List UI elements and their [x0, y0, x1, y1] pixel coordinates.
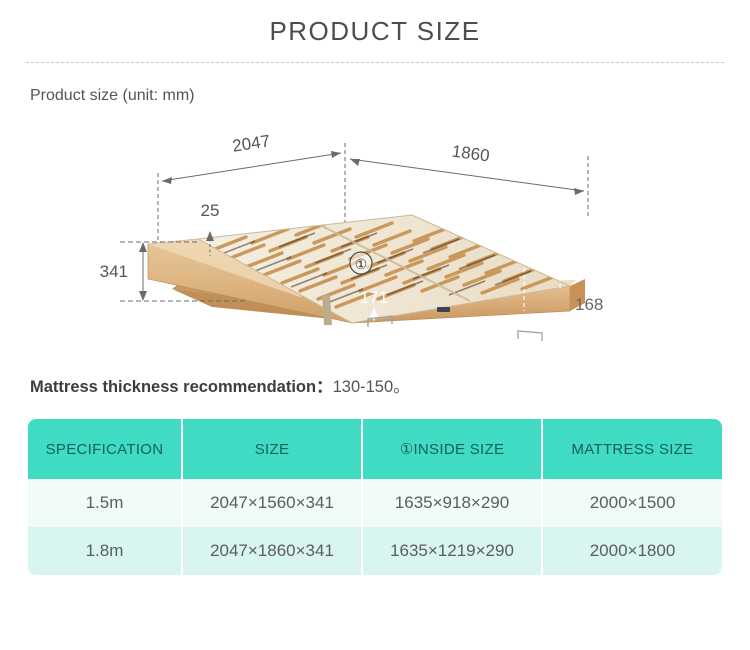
table-row: 1.8m 2047×1860×341 1635×1219×290 2000×18…	[28, 527, 722, 575]
cell-inside-size: 1635×918×290	[363, 479, 543, 527]
column-header-size: SIZE	[183, 419, 363, 479]
divider	[26, 62, 724, 63]
bed-diagram: 2047 1860	[0, 111, 750, 361]
brand-badge	[437, 307, 450, 312]
dimension-label-1860: 1860	[451, 142, 491, 166]
cell-size: 2047×1560×341	[183, 479, 363, 527]
dimension-label-341: 341	[100, 262, 128, 281]
inside-size-marker: ①	[350, 252, 372, 274]
mattress-recommendation-label: Mattress thickness recommendation：	[30, 378, 333, 396]
cell-size: 2047×1860×341	[183, 527, 363, 575]
bed-illustration	[148, 215, 585, 341]
column-header-specification: SPECIFICATION	[28, 419, 183, 479]
cell-specification: 1.5m	[28, 479, 183, 527]
table-row: 1.5m 2047×1560×341 1635×918×290 2000×150…	[28, 479, 722, 527]
dimension-label-2047: 2047	[231, 131, 271, 155]
inside-size-marker-label: ①	[355, 256, 368, 272]
page-title: PRODUCT SIZE	[0, 0, 750, 48]
specification-table: SPECIFICATION SIZE ①INSIDE SIZE MATTRESS…	[28, 419, 722, 575]
column-header-inside-size: ①INSIDE SIZE	[363, 419, 543, 479]
cell-specification: 1.8m	[28, 527, 183, 575]
table-header-row: SPECIFICATION SIZE ①INSIDE SIZE MATTRESS…	[28, 419, 722, 479]
cell-mattress-size: 2000×1500	[543, 479, 722, 527]
handle-bracket-right	[518, 331, 542, 341]
dimension-label-171: 171	[360, 288, 388, 307]
mattress-recommendation-value: 130-150。	[333, 378, 410, 396]
subtitle: Product size (unit: mm)	[30, 87, 750, 105]
cell-mattress-size: 2000×1800	[543, 527, 722, 575]
dimension-label-168: 168	[575, 295, 603, 314]
dimension-label-25: 25	[201, 201, 220, 220]
dimension-1860: 1860	[350, 142, 588, 219]
cell-inside-size: 1635×1219×290	[363, 527, 543, 575]
column-header-mattress-size: MATTRESS SIZE	[543, 419, 722, 479]
mattress-recommendation: Mattress thickness recommendation：130-15…	[30, 373, 750, 397]
bed-diagram-svg: 2047 1860	[0, 111, 750, 361]
